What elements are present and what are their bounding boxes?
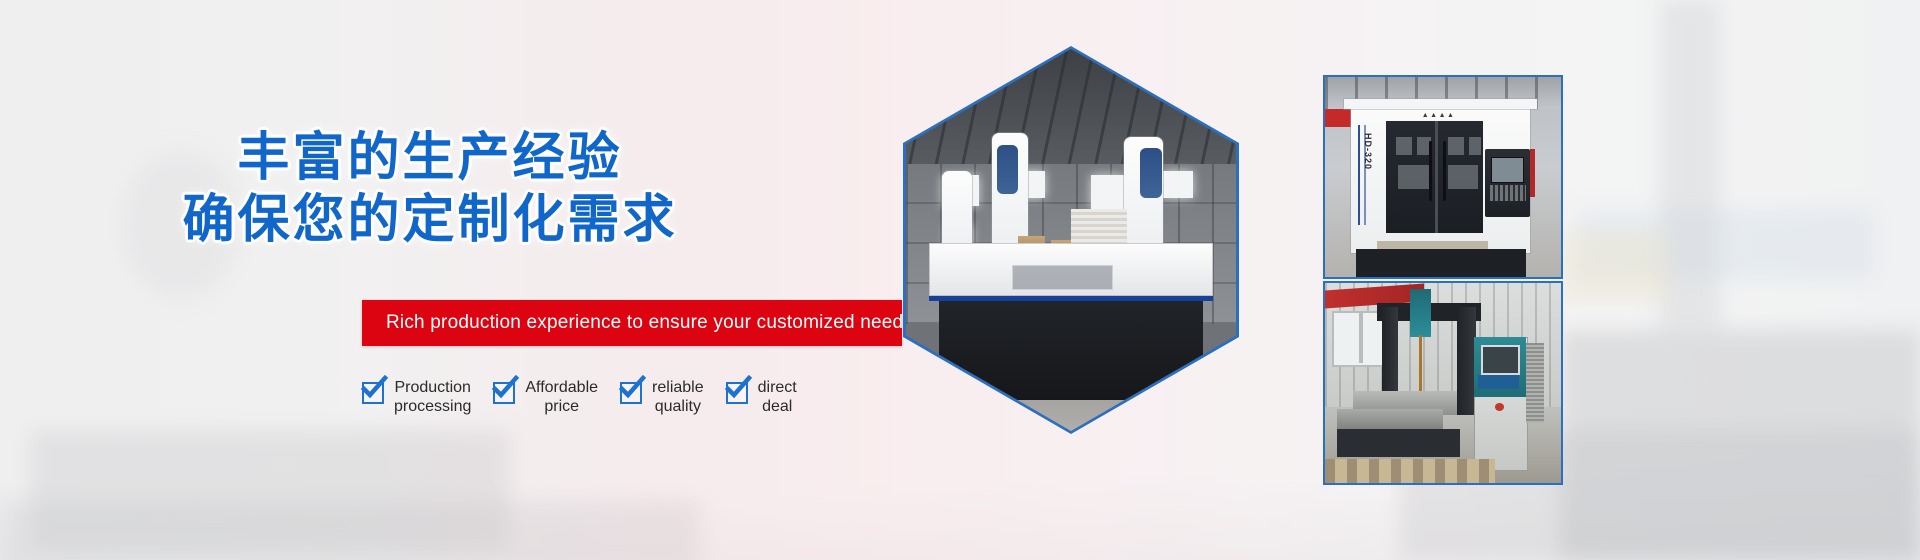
console-screen [1491, 157, 1524, 183]
feature-item: reliable quality [620, 378, 704, 416]
tagline-banner: Rich production experience to ensure you… [362, 300, 902, 346]
page-title: 丰富的生产经验 确保您的定制化需求 [0, 128, 860, 252]
machine-door-split [1435, 121, 1439, 233]
hd-320-machining-center-photo: HD-320 ▲▲▲▲ [1323, 75, 1563, 279]
feature-item: Production processing [362, 378, 471, 416]
checkbox-checked-icon [493, 382, 515, 404]
machine-model-label: HD-320 [1363, 133, 1373, 170]
feature-item: Affordable price [493, 378, 598, 416]
feature-label: reliable quality [652, 378, 704, 416]
machine-base [939, 286, 1203, 401]
door-handle [1429, 141, 1432, 201]
machine-brow [1344, 99, 1538, 109]
machine-stripe [1358, 125, 1360, 225]
door-handle [1443, 141, 1446, 201]
feature-list: Production processing Affordable price r… [362, 378, 819, 416]
feature-label: Affordable price [525, 378, 598, 416]
console-accent-bar [1530, 149, 1535, 197]
machine-bed-window [1012, 265, 1113, 290]
checkbox-checked-icon [726, 382, 748, 404]
wooden-pallet [1325, 459, 1495, 483]
edm-wire-cut-machine-photo [1323, 281, 1563, 485]
workshop-window [1091, 175, 1124, 209]
cutting-head [1410, 289, 1431, 337]
feature-item: direct deal [726, 378, 797, 416]
feature-label: Production processing [394, 378, 471, 416]
door-window [1448, 165, 1479, 189]
machine-panel [1140, 148, 1161, 198]
promotional-hero-banner: 丰富的生产经验 确保您的定制化需求 Rich production experi… [0, 0, 1920, 560]
door-window [1396, 137, 1413, 155]
cabinet-vent [1526, 343, 1545, 423]
door-window [1448, 137, 1465, 155]
hexagon-photo-clip [906, 49, 1236, 431]
headline-copy-column: 丰富的生产经验 确保您的定制化需求 Rich production experi… [0, 0, 920, 560]
factory-scene [906, 49, 1236, 431]
checkbox-checked-icon [620, 382, 642, 404]
tagline-text: Rich production experience to ensure you… [362, 312, 913, 334]
control-panel [1478, 375, 1518, 389]
machine-panel [997, 145, 1018, 195]
headline-line-1: 丰富的生产经验 [237, 130, 622, 187]
window-mullion [1359, 311, 1363, 363]
headline-line-2: 确保您的定制化需求 [0, 190, 860, 252]
door-window [1398, 165, 1429, 189]
machine-table-base [1337, 429, 1460, 457]
door-window [1469, 137, 1481, 155]
checkbox-checked-icon [362, 382, 384, 404]
machine-table [1337, 409, 1443, 431]
cnc-gantry-machining-center-photo [903, 46, 1239, 434]
feature-label: direct deal [758, 378, 797, 416]
machine-brandmark: ▲▲▲▲ [1422, 112, 1456, 119]
machining-center-scene: HD-320 ▲▲▲▲ [1325, 77, 1561, 277]
console-keypad [1490, 185, 1525, 201]
machine-plinth [1356, 249, 1526, 277]
control-screen [1481, 345, 1520, 375]
workshop-window [1163, 171, 1193, 198]
edm-machine-scene [1325, 283, 1561, 483]
